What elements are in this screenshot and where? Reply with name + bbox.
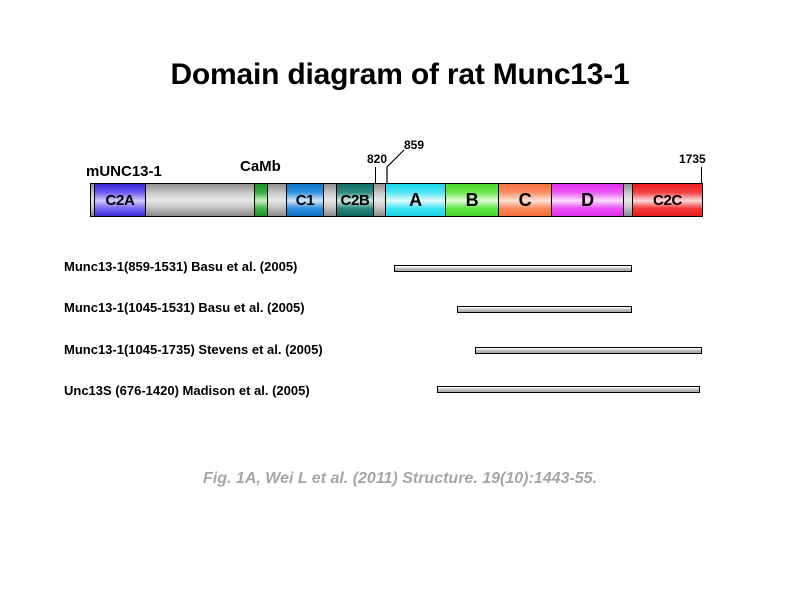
tick-line-1735 — [701, 167, 702, 184]
domain-segment-c1: C1 — [287, 184, 324, 216]
protein-name-label: mUNC13-1 — [86, 163, 162, 180]
domain-segment-linker-2 — [268, 184, 287, 216]
domain-segment-mun-d: D — [552, 184, 624, 216]
domain-segment-camb — [255, 184, 268, 216]
domain-segment-linker-1 — [146, 184, 255, 216]
construct-label-3: Munc13-1(1045-1735) Stevens et al. (2005… — [64, 342, 323, 357]
domain-segment-mun-c: C — [499, 184, 552, 216]
domain-label-c2a: C2A — [105, 193, 134, 208]
domain-label-c2c: C2C — [653, 193, 682, 208]
domain-segment-linker-4 — [374, 184, 386, 216]
construct-bar-3 — [475, 347, 702, 354]
domain-segment-c2b: C2B — [337, 184, 374, 216]
domain-segment-mun-a: A — [386, 184, 446, 216]
figure-caption: Fig. 1A, Wei L et al. (2011) Structure. … — [0, 470, 800, 488]
construct-label-2: Munc13-1(1045-1531) Basu et al. (2005) — [64, 300, 305, 315]
domain-label-c1: C1 — [296, 193, 315, 208]
domain-label-mun-c: C — [519, 191, 532, 209]
domain-label-mun-b: B — [466, 191, 479, 209]
construct-label-1: Munc13-1(859-1531) Basu et al. (2005) — [64, 259, 297, 274]
construct-label-4: Unc13S (676-1420) Madison et al. (2005) — [64, 383, 310, 398]
domain-segment-linker-5 — [624, 184, 633, 216]
construct-bar-1 — [394, 265, 632, 272]
domain-label-mun-d: D — [581, 191, 594, 209]
tick-line-820 — [375, 167, 376, 184]
construct-bar-4 — [437, 386, 700, 393]
domain-architecture-bar: C2A C1 C2B A B C D C2C — [90, 183, 703, 217]
domain-label-mun-a: A — [409, 191, 422, 209]
domain-segment-mun-b: B — [446, 184, 499, 216]
camb-motif-label: CaMb — [240, 158, 281, 175]
domain-label-c2b: C2B — [340, 193, 369, 208]
page-title: Domain diagram of rat Munc13-1 — [0, 58, 800, 92]
domain-segment-linker-3 — [324, 184, 337, 216]
residue-marker-1735: 1735 — [679, 152, 706, 166]
domain-segment-c2c: C2C — [633, 184, 702, 216]
construct-bar-2 — [457, 306, 632, 313]
domain-segment-c2a: C2A — [95, 184, 146, 216]
leader-line-859 — [380, 150, 410, 184]
slide-canvas: Domain diagram of rat Munc13-1 mUNC13-1 … — [0, 0, 800, 600]
